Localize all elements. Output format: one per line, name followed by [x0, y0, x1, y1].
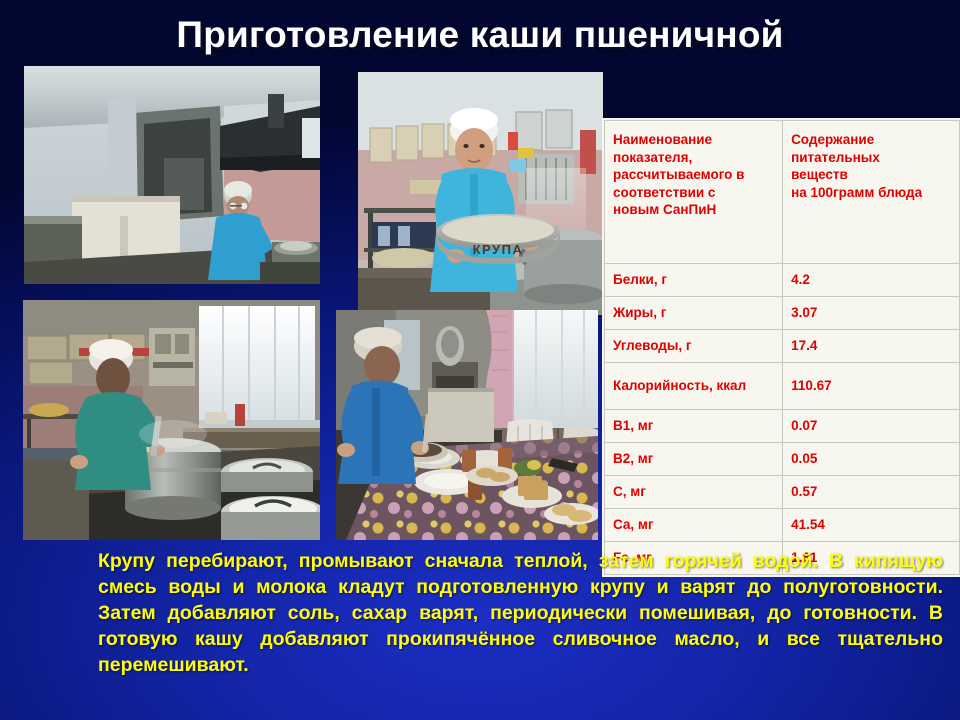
photo-serving-table: [336, 310, 598, 540]
svg-text:КРУПА: КРУПА: [473, 242, 524, 257]
photo-cook-at-pots-image: [23, 300, 320, 540]
table-cell-value: 3.07: [783, 297, 960, 330]
table-header-nutrient-content: Содержание питательных веществ на 100гра…: [783, 121, 960, 264]
table-cell-indicator: В1, мг: [605, 410, 783, 443]
photo-kitchen-hood: [24, 66, 320, 284]
photo-krupa-basin-image: КРУПА: [358, 72, 603, 315]
table-row: Калорийность, ккал110.67: [605, 363, 960, 410]
presentation-slide: Приготовление каши пшеничной: [0, 0, 960, 720]
table-header-row: Наименование показателя, рассчитываемого…: [605, 121, 960, 264]
page-title: Приготовление каши пшеничной: [176, 14, 783, 56]
slide-title-container: Приготовление каши пшеничной: [0, 14, 960, 56]
table-cell-value: 4.2: [783, 264, 960, 297]
table-row: Белки, г4.2: [605, 264, 960, 297]
table-row: В2, мг0.05: [605, 443, 960, 476]
table-row: Са, мг41.54: [605, 509, 960, 542]
table-cell-value: 0.07: [783, 410, 960, 443]
table-cell-indicator: Жиры, г: [605, 297, 783, 330]
photo-serving-table-image: [336, 310, 598, 540]
table-cell-indicator: С, мг: [605, 476, 783, 509]
table-cell-indicator: В2, мг: [605, 443, 783, 476]
photo-kitchen-hood-image: [24, 66, 320, 284]
table-header: Наименование показателя, рассчитываемого…: [605, 121, 960, 264]
table-cell-value: 41.54: [783, 509, 960, 542]
table-header-indicator-name: Наименование показателя, рассчитываемого…: [605, 121, 783, 264]
recipe-description: Крупу перебирают, промывают сначала тепл…: [98, 548, 943, 704]
table-cell-indicator: Углеводы, г: [605, 330, 783, 363]
table-cell-value: 17.4: [783, 330, 960, 363]
table-cell-value: 0.05: [783, 443, 960, 476]
table-row: Углеводы, г17.4: [605, 330, 960, 363]
table-row: С, мг0.57: [605, 476, 960, 509]
table-cell-indicator: Калорийность, ккал: [605, 363, 783, 410]
table-row: Жиры, г3.07: [605, 297, 960, 330]
table-cell-indicator: Белки, г: [605, 264, 783, 297]
photo-krupa-basin: КРУПА: [358, 72, 603, 315]
table-row: В1, мг0.07: [605, 410, 960, 443]
photo-cook-at-pots: [23, 300, 320, 540]
table-cell-value: 0.57: [783, 476, 960, 509]
table-cell-indicator: Са, мг: [605, 509, 783, 542]
table-cell-value: 110.67: [783, 363, 960, 410]
table-body: Белки, г4.2Жиры, г3.07Углеводы, г17.4Кал…: [605, 264, 960, 575]
nutrition-table: Наименование показателя, рассчитываемого…: [604, 120, 960, 575]
